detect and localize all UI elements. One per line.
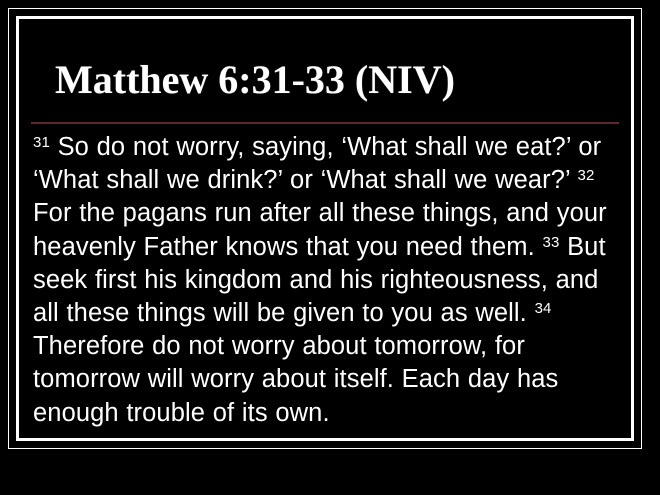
slide-canvas: Matthew 6:31-33 (NIV) 31 So do not worry… xyxy=(0,0,660,495)
verse-number-32: 32 xyxy=(578,167,595,184)
verse-text-34: Therefore do not worry about tomorrow, f… xyxy=(33,332,558,426)
verse-text-32: For the pagans run after all these thing… xyxy=(33,199,607,260)
slide-title: Matthew 6:31-33 (NIV) xyxy=(55,57,455,103)
verse-text-31: So do not worry, saying, ‘What shall we … xyxy=(33,133,601,194)
scripture-body: 31 So do not worry, saying, ‘What shall … xyxy=(33,131,629,430)
title-divider-rule xyxy=(31,122,619,124)
verse-number-31: 31 xyxy=(33,134,50,151)
verse-number-34: 34 xyxy=(535,300,552,317)
verse-number-33: 33 xyxy=(543,234,560,251)
slide-content: Matthew 6:31-33 (NIV) 31 So do not worry… xyxy=(19,19,631,438)
